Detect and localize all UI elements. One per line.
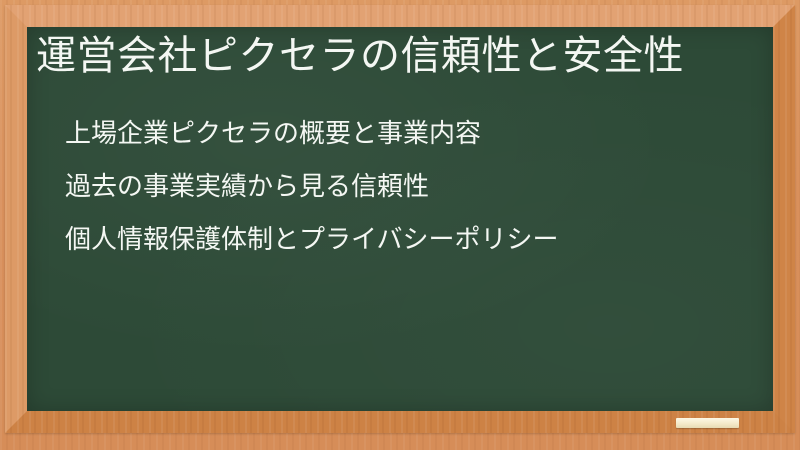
list-item: 上場企業ピクセラの概要と事業内容 bbox=[65, 107, 755, 160]
list-item: 過去の事業実績から見る信頼性 bbox=[65, 160, 755, 213]
list-item: 個人情報保護体制とプライバシーポリシー bbox=[65, 213, 755, 266]
blackboard-surface: 運営会社ピクセラの信頼性と安全性 上場企業ピクセラの概要と事業内容 過去の事業実… bbox=[27, 27, 773, 411]
slide-canvas: 運営会社ピクセラの信頼性と安全性 上場企業ピクセラの概要と事業内容 過去の事業実… bbox=[0, 0, 800, 450]
chalk-stick-icon bbox=[676, 418, 739, 428]
topic-list: 上場企業ピクセラの概要と事業内容 過去の事業実績から見る信頼性 個人情報保護体制… bbox=[65, 107, 755, 266]
page-title: 運営会社ピクセラの信頼性と安全性 bbox=[36, 31, 684, 81]
